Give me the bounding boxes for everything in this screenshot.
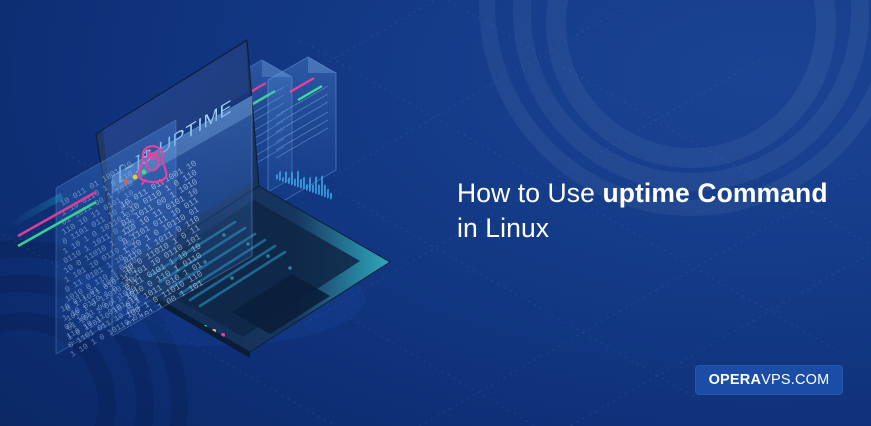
doc-card-front (268, 57, 336, 210)
logo-text: OPERAVPS.COM (709, 372, 830, 388)
headline-emphasis: uptime Command (602, 178, 827, 208)
hero-banner: [~]$ UPTIME (0, 0, 871, 426)
logo-brand-light: VPS.COM (761, 372, 829, 388)
operavps-logo-badge[interactable]: OPERAVPS.COM (695, 365, 843, 395)
headline-line2: in Linux (457, 213, 549, 243)
page-title: How to Use uptime Command in Linux (457, 176, 837, 246)
laptop-illustration: [~]$ UPTIME (0, 30, 430, 370)
logo-brand-bold: OPERA (709, 372, 762, 388)
headline-prefix: How to Use (457, 178, 602, 208)
